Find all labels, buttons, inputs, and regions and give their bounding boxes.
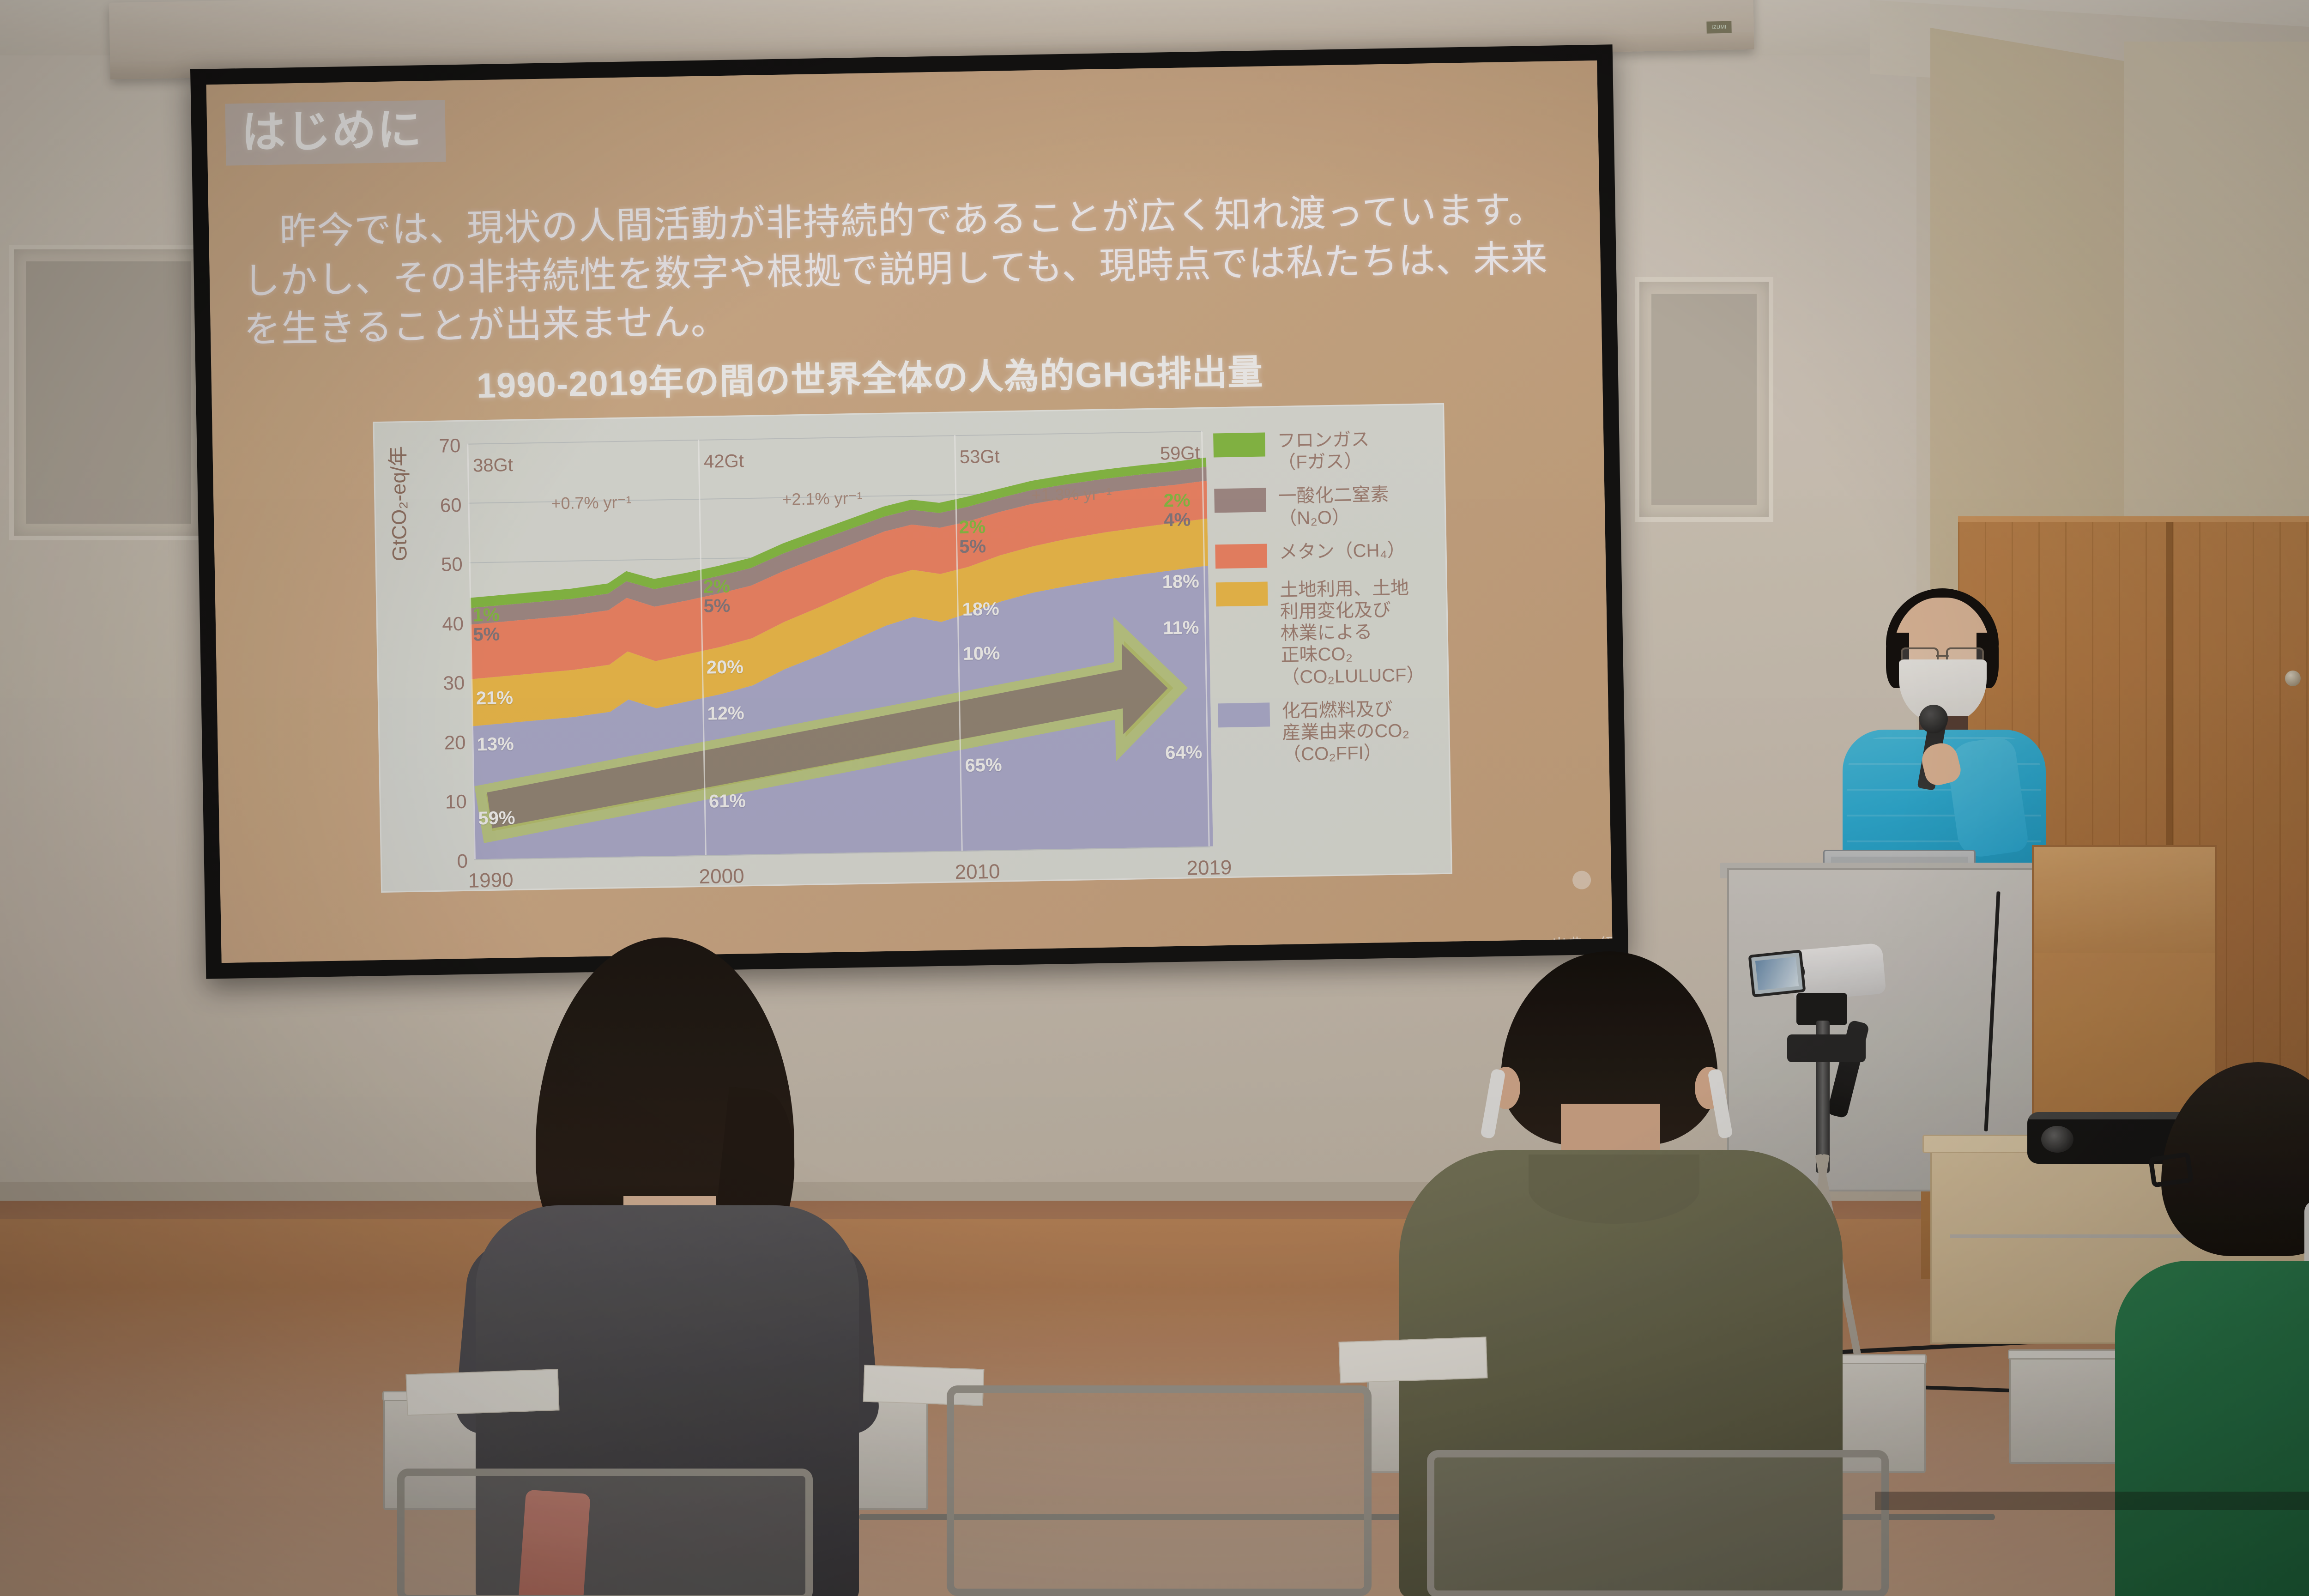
share-2019-ffi: 64% — [1165, 742, 1203, 763]
chart-container: 1990-2019年の間の世界全体の人為的GHG排出量 GtCO₂-eq/年 7… — [330, 333, 1522, 931]
y-tick-70: 70 — [400, 435, 461, 458]
legend-swatch-n2o — [1214, 488, 1266, 513]
audience-right-glasses-icon — [2148, 1152, 2194, 1188]
slide-title-box: はじめに — [225, 100, 446, 165]
share-2000-lulucf: 12% — [707, 703, 744, 724]
legend-item-lulucf: 土地利用、土地利用変化及び 林業による正味CO₂ （CO₂LULUCF） — [1216, 577, 1435, 689]
paper-handout-left[interactable] — [406, 1369, 560, 1415]
chair-left[interactable] — [397, 1469, 813, 1596]
screen-surface: はじめに 昨今では、現状の人間活動が非持続的であることが広く知れ渡っています。し… — [206, 60, 1613, 963]
paper-handout-right[interactable] — [1339, 1336, 1488, 1383]
share-2019-ch4: 18% — [1162, 571, 1199, 592]
legend-label-ch4: メタン（CH₄） — [1279, 539, 1406, 563]
share-1990-n2o: 5% — [473, 624, 500, 645]
share-2019-lulucf: 11% — [1163, 617, 1199, 639]
share-1990-ffi: 59% — [478, 808, 515, 829]
share-2019-n2o: 4% — [1164, 509, 1191, 531]
legend-swatch-f-gas — [1213, 433, 1265, 458]
legend-swatch-ch4 — [1215, 544, 1267, 568]
share-2010-f-gas: 2% — [959, 517, 986, 538]
legend-label-lulucf: 土地利用、土地利用変化及び 林業による正味CO₂ （CO₂LULUCF） — [1280, 577, 1425, 688]
legend-item-f-gas: フロンガス（Fガス） — [1213, 428, 1431, 475]
growth-rate-2000-2010: +2.1% yr⁻¹ — [782, 489, 863, 509]
y-tick-50: 50 — [402, 553, 463, 576]
y-tick-30: 30 — [405, 672, 465, 695]
angled-wall-panel-2 — [2124, 42, 2309, 596]
legend-item-ffi: 化石燃料及び産業由来のCO₂ （CO₂FFI） — [1218, 698, 1436, 767]
share-2010-lulucf: 10% — [963, 643, 1000, 665]
legend-label-n2o: 一酸化二窒素（N₂O） — [1278, 484, 1390, 530]
chart-card: GtCO₂-eq/年 70 60 50 40 30 20 10 0 — [373, 403, 1452, 893]
total-label-2010: 53Gt — [960, 447, 1000, 468]
x-tick-2019: 2019 — [1186, 856, 1232, 880]
x-tick-2010: 2010 — [955, 860, 1000, 884]
legend-item-ch4: メタン（CH₄） — [1215, 539, 1433, 568]
share-2010-ffi: 65% — [965, 755, 1002, 776]
slide-title: はじめに — [241, 108, 423, 155]
share-2010-ch4: 18% — [962, 599, 999, 620]
growth-rate-1990-2000: +0.7% yr⁻¹ — [551, 492, 632, 513]
wall-recess-panel-left — [9, 245, 208, 540]
legend-swatch-lulucf — [1216, 581, 1268, 606]
chair-right[interactable] — [1427, 1450, 1889, 1596]
share-2000-f-gas: 2% — [703, 576, 730, 598]
chart-title: 1990-2019年の間の世界全体の人為的GHG排出量 — [413, 342, 1326, 409]
total-label-1990: 38Gt — [473, 455, 513, 477]
share-1990-ch4: 21% — [476, 688, 513, 709]
y-tick-60: 60 — [401, 494, 462, 517]
x-tick-2000: 2000 — [699, 864, 744, 889]
share-1990-lulucf: 13% — [477, 734, 514, 755]
wall-recess-panel-right — [1635, 277, 1773, 522]
y-tick-0: 0 — [408, 850, 468, 873]
lecture-hall-photo: IZUMI はじめに 昨今では、現状の人間活動が非持続的であることが広く知れ渡っ… — [0, 0, 2309, 1596]
audience-right-green-jacket — [2115, 1261, 2309, 1596]
growth-rate-2010-2019: +1.3% yr⁻¹ — [1031, 484, 1112, 505]
x-tick-1990: 1990 — [468, 869, 514, 893]
chart-legend: フロンガス（Fガス） 一酸化二窒素（N₂O） メタン — [1213, 428, 1436, 779]
share-2019-f-gas: 2% — [1163, 490, 1191, 511]
chair-back-center — [947, 1385, 1372, 1596]
y-tick-10: 10 — [406, 791, 467, 814]
chair-back-left — [397, 1469, 813, 1596]
legend-label-f-gas: フロンガス（Fガス） — [1277, 429, 1370, 474]
floor-shadow — [1875, 1492, 2309, 1510]
slide-body-text: 昨今では、現状の人間活動が非持続的であることが広く知れ渡っています。しかし、その… — [242, 185, 1551, 354]
legend-swatch-ffi — [1218, 702, 1270, 727]
y-tick-40: 40 — [404, 613, 464, 636]
legend-label-ffi: 化石燃料及び産業由来のCO₂ （CO₂FFI） — [1281, 698, 1410, 766]
legend-item-n2o: 一酸化二窒素（N₂O） — [1214, 484, 1432, 531]
presentation-slide: はじめに 昨今では、現状の人間活動が非持続的であることが広く知れ渡っています。し… — [206, 60, 1613, 963]
total-label-2000: 42Gt — [704, 451, 744, 472]
total-label-2019: 59Gt — [1160, 443, 1200, 465]
presenter-person — [1838, 577, 2050, 873]
chair-center[interactable] — [947, 1385, 1372, 1596]
share-2000-ch4: 20% — [706, 657, 743, 678]
audience-member-right — [2106, 1062, 2309, 1596]
share-2000-ffi: 61% — [708, 791, 746, 812]
share-2010-n2o: 5% — [959, 536, 986, 557]
door-knob[interactable] — [2285, 671, 2301, 686]
projection-screen: はじめに 昨今では、現状の人間活動が非持続的であることが広く知れ渡っています。し… — [190, 44, 1628, 979]
microphone-icon — [1919, 705, 1948, 733]
projector-lens-icon — [2041, 1126, 2073, 1153]
share-1990-f-gas: 1% — [472, 605, 500, 626]
chair-back-right — [1427, 1450, 1889, 1596]
audience-center-collar — [1529, 1155, 1699, 1224]
screen-case-brand-label: IZUMI — [1706, 21, 1731, 34]
slide-source-note: 出典：経済産業省 資源エネルギー庁 — [1551, 928, 1612, 955]
share-2000-n2o: 5% — [703, 596, 731, 617]
screen-reflection-dot — [1572, 871, 1591, 889]
y-tick-20: 20 — [405, 731, 466, 755]
